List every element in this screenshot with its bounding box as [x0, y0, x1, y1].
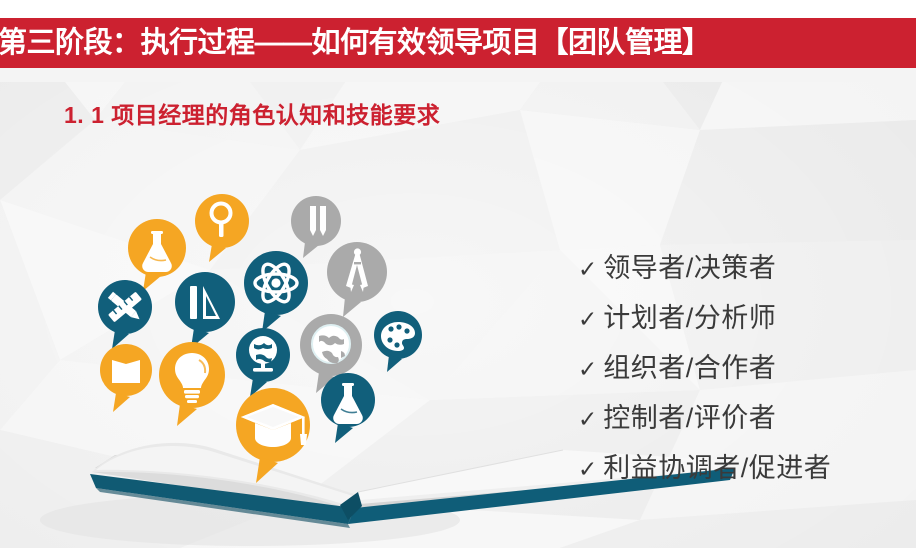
bubble-magnifier-icon: [195, 194, 249, 262]
check-icon: ✓: [578, 258, 597, 281]
bubble-palette-icon: [374, 311, 422, 372]
banner-underband: [0, 68, 916, 82]
bubble-graduation-cap-icon: [236, 388, 310, 483]
role-list: ✓ 领导者/决策者 ✓ 计划者/分析师 ✓ 组织者/合作者 ✓ 控制者/评价者 …: [578, 246, 831, 496]
bubble-set-square-icon: [175, 272, 235, 348]
list-item: ✓ 利益协调者/促进者: [578, 446, 831, 496]
check-icon: ✓: [578, 358, 597, 381]
page-title: 第三阶段：执行过程——如何有效领导项目【团队管理】: [0, 29, 711, 58]
list-item: ✓ 组织者/合作者: [578, 346, 831, 396]
bubble-pencils-icon: [291, 196, 341, 258]
list-item: ✓ 领导者/决策者: [578, 246, 831, 296]
bubble-atom-icon: [244, 251, 308, 332]
top-white-strip: [0, 0, 916, 18]
list-item: ✓ 控制者/评价者: [578, 396, 831, 446]
check-icon: ✓: [578, 308, 597, 331]
list-item-label: 计划者/分析师: [603, 296, 776, 335]
title-banner: 第三阶段：执行过程——如何有效领导项目【团队管理】: [0, 18, 916, 68]
list-item-label: 领导者/决策者: [603, 246, 776, 285]
check-icon: ✓: [578, 458, 597, 481]
bubble-erlenmeyer-flask-icon: [321, 373, 375, 443]
bubble-compass-icon: [327, 242, 387, 317]
list-item: ✓ 计划者/分析师: [578, 296, 831, 346]
list-item-label: 利益协调者/促进者: [603, 446, 831, 485]
slide-canvas: 第三阶段：执行过程——如何有效领导项目【团队管理】 1. 1 项目经理的角色认知…: [0, 0, 916, 548]
bubble-lightbulb-icon: [159, 342, 225, 426]
bubble-ruler-pencil-icon: [98, 280, 152, 349]
check-icon: ✓: [578, 408, 597, 431]
bubble-globe-stand-icon: [236, 328, 290, 397]
bubble-flask-icon: [128, 219, 186, 291]
list-item-label: 组织者/合作者: [603, 346, 776, 385]
list-item-label: 控制者/评价者: [603, 396, 776, 435]
section-subtitle: 1. 1 项目经理的角色认知和技能要求: [64, 96, 440, 130]
bubble-book-open-icon: [100, 344, 152, 412]
